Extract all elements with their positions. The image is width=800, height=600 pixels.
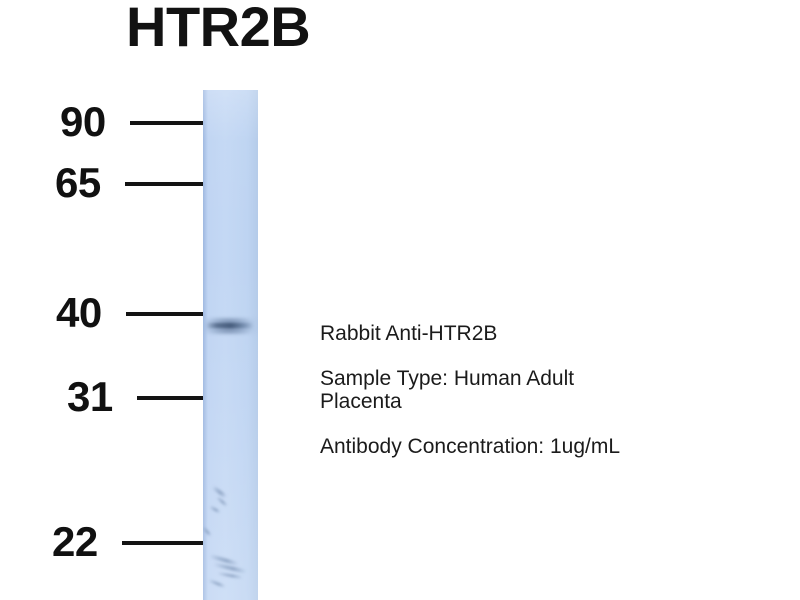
ladder-tick-40: [126, 312, 203, 316]
ladder-tick-31: [137, 396, 203, 400]
annotation-block: Rabbit Anti-HTR2B Sample Type: Human Adu…: [320, 322, 775, 458]
protein-band: [207, 323, 253, 328]
western-blot-figure: HTR2B 90 65 40 31 22 Rabbit Anti-HTR2B S…: [0, 0, 800, 600]
ladder-tick-22: [122, 541, 203, 545]
annotation-sample-type: Sample Type: Human Adult Placenta: [320, 367, 775, 414]
ladder-label-65: 65: [55, 162, 101, 204]
ladder-label-22: 22: [52, 521, 98, 563]
ladder-label-90: 90: [60, 101, 106, 143]
ladder-tick-90: [130, 121, 203, 125]
page-title: HTR2B: [126, 0, 310, 57]
annotation-antibody: Rabbit Anti-HTR2B: [320, 322, 775, 346]
ladder-tick-65: [125, 182, 203, 186]
ladder-label-40: 40: [56, 292, 102, 334]
lane-background-texture: [203, 90, 258, 600]
annotation-antibody-concentration: Antibody Concentration: 1ug/mL: [320, 435, 775, 459]
gel-lane: [203, 90, 258, 600]
ladder-label-31: 31: [67, 376, 113, 418]
